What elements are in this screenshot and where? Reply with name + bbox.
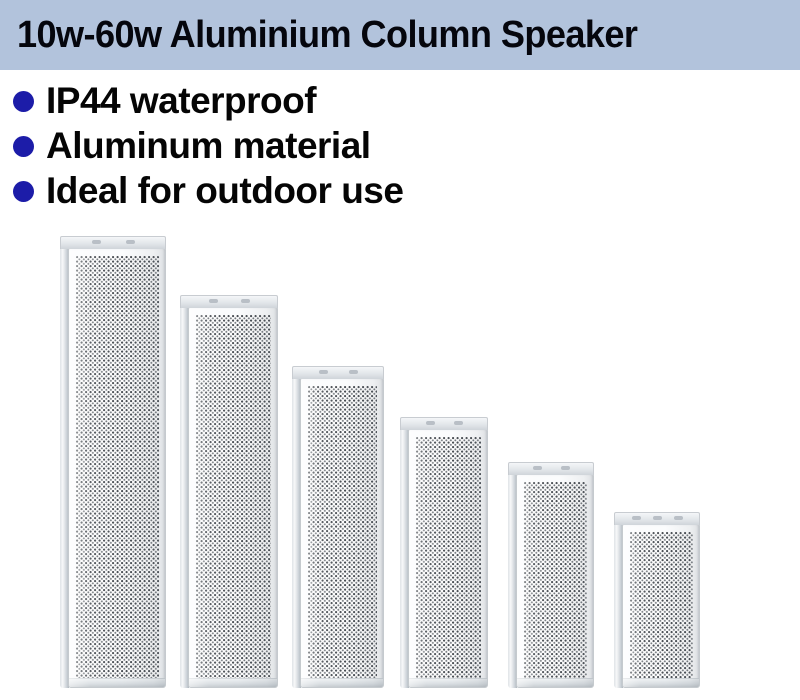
cap-screw-icon bbox=[92, 240, 101, 244]
speaker-base-edge bbox=[69, 678, 165, 687]
speaker-top-cap bbox=[400, 417, 488, 430]
speaker-base-edge bbox=[301, 678, 383, 687]
speaker-base-edge bbox=[189, 678, 277, 687]
cap-screw-icon bbox=[454, 421, 463, 425]
perforated-grille bbox=[196, 315, 271, 680]
column-speaker-4 bbox=[400, 417, 488, 688]
cap-screw-icon bbox=[349, 370, 358, 374]
column-speaker-1 bbox=[60, 236, 166, 688]
cap-screw-icon bbox=[533, 466, 542, 470]
product-image bbox=[0, 0, 800, 700]
cap-screw-icon bbox=[561, 466, 570, 470]
speaker-base-edge bbox=[623, 678, 699, 687]
perforated-grille bbox=[76, 256, 159, 680]
speaker-front-panel bbox=[408, 429, 488, 688]
column-speaker-6 bbox=[614, 512, 700, 688]
cap-screw-icon bbox=[319, 370, 328, 374]
speaker-front-panel bbox=[68, 248, 166, 688]
perforated-grille bbox=[524, 482, 587, 680]
cap-screw-icon bbox=[674, 516, 683, 520]
speaker-base-edge bbox=[517, 678, 593, 687]
speaker-top-cap bbox=[508, 462, 594, 475]
speaker-front-panel bbox=[622, 524, 700, 688]
column-speaker-5 bbox=[508, 462, 594, 688]
perforated-grille bbox=[416, 437, 481, 680]
cap-screw-icon bbox=[632, 516, 641, 520]
column-speaker-2 bbox=[180, 295, 278, 688]
perforated-grille bbox=[308, 386, 377, 680]
cap-screw-icon bbox=[653, 516, 662, 520]
cap-screw-icon bbox=[241, 299, 250, 303]
cap-screw-icon bbox=[209, 299, 218, 303]
cap-screw-icon bbox=[426, 421, 435, 425]
column-speaker-3 bbox=[292, 366, 384, 688]
speaker-top-cap bbox=[292, 366, 384, 379]
perforated-grille bbox=[630, 532, 693, 680]
speaker-top-cap bbox=[60, 236, 166, 249]
cap-screw-icon bbox=[126, 240, 135, 244]
speaker-front-panel bbox=[188, 307, 278, 688]
speaker-front-panel bbox=[300, 378, 384, 688]
speaker-top-cap bbox=[180, 295, 278, 308]
speaker-base-edge bbox=[409, 678, 487, 687]
speaker-front-panel bbox=[516, 474, 594, 688]
speaker-top-cap bbox=[614, 512, 700, 525]
